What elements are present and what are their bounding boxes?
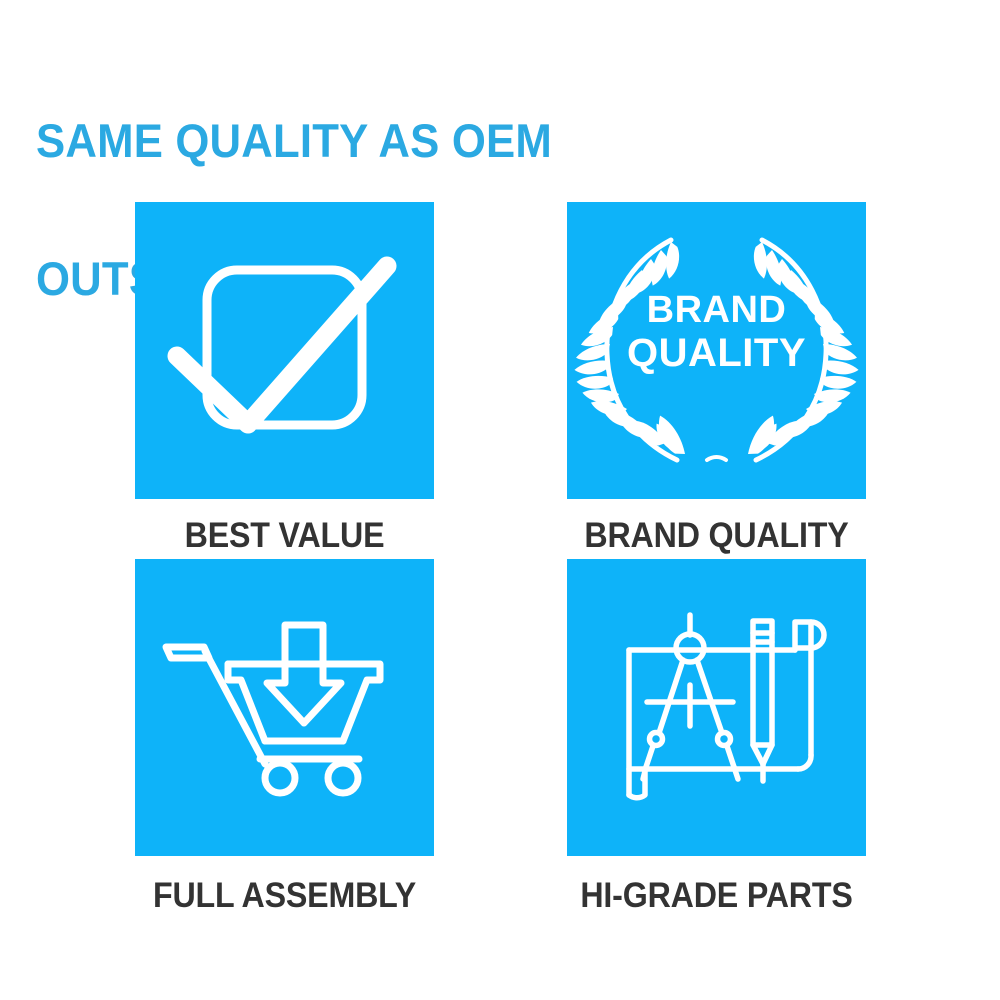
feature-grid: BEST VALUE <box>135 202 868 913</box>
laurel-wreath-icon <box>567 202 866 499</box>
feature-card-best-value[interactable]: BEST VALUE <box>135 202 434 553</box>
checkbox-check-icon <box>135 202 434 499</box>
feature-caption-full-assembly: FULL ASSEMBLY <box>147 856 422 913</box>
feature-tile-hi-grade-parts <box>567 559 866 856</box>
blueprint-compass-pencil-icon <box>567 559 866 856</box>
feature-caption-hi-grade-parts: HI-GRADE PARTS <box>579 856 854 913</box>
feature-tile-brand-quality: BRAND QUALITY <box>567 202 866 499</box>
feature-card-hi-grade-parts[interactable]: HI-GRADE PARTS <box>567 559 866 913</box>
feature-tile-best-value <box>135 202 434 499</box>
feature-card-full-assembly[interactable]: FULL ASSEMBLY <box>135 559 434 913</box>
feature-card-brand-quality[interactable]: BRAND QUALITY BRAND QUALITY <box>567 202 866 553</box>
feature-tile-full-assembly <box>135 559 434 856</box>
headline-line-1: SAME QUALITY AS OEM <box>36 118 873 164</box>
feature-caption-brand-quality: BRAND QUALITY <box>579 499 854 553</box>
feature-caption-best-value: BEST VALUE <box>147 499 422 553</box>
shopping-cart-download-icon <box>135 559 434 856</box>
